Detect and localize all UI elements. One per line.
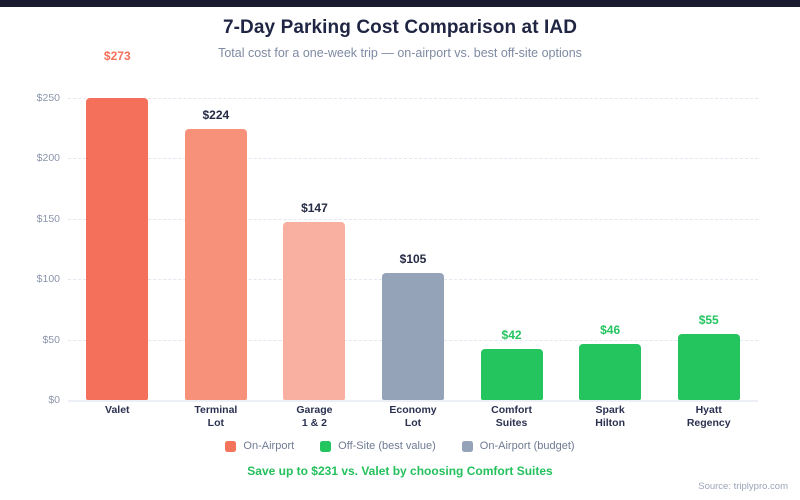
- bar-column[interactable]: $46: [579, 98, 641, 400]
- bar-value-label: $273: [57, 49, 177, 63]
- y-axis-tick-label: $250: [8, 92, 60, 104]
- legend-swatch-on-airport: [225, 441, 236, 452]
- page-title: 7-Day Parking Cost Comparison at IAD: [0, 17, 800, 39]
- chart-page: 7-Day Parking Cost Comparison at IAD Tot…: [0, 0, 800, 500]
- legend-label: On-Airport: [243, 440, 294, 452]
- legend-swatch-off-site: [320, 441, 331, 452]
- bar-column[interactable]: $224: [185, 98, 247, 400]
- bar[interactable]: [185, 129, 247, 400]
- source-attribution: Source: triplypro.com: [698, 481, 788, 492]
- y-axis-tick-label: $150: [8, 213, 60, 225]
- y-axis-tick-label: $50: [8, 334, 60, 346]
- plot-area: $0$50$100$150$200$250 $273$224$147$105$4…: [68, 98, 758, 400]
- legend-label: On-Airport (budget): [480, 440, 575, 452]
- legend-swatch-on-airport-budget: [462, 441, 473, 452]
- bar[interactable]: [678, 334, 740, 400]
- y-axis-tick-label: $100: [8, 273, 60, 285]
- bar-column[interactable]: $273: [86, 98, 148, 400]
- bar-value-label: $55: [649, 313, 769, 327]
- chart-legend: On-AirportOff-Site (best value)On-Airpor…: [0, 440, 800, 452]
- x-axis-labels: ValetTerminalLotGarage1 & 2EconomyLotCom…: [68, 404, 758, 438]
- gridline: [68, 400, 758, 402]
- legend-item[interactable]: Off-Site (best value): [320, 440, 436, 452]
- bar[interactable]: [481, 349, 543, 400]
- bar-series: $273$224$147$105$42$46$55: [68, 98, 758, 400]
- bar-column[interactable]: $42: [481, 98, 543, 400]
- bar[interactable]: [86, 98, 148, 400]
- y-axis-tick-label: $0: [8, 394, 60, 406]
- bar-column[interactable]: $147: [283, 98, 345, 400]
- bar[interactable]: [579, 344, 641, 400]
- bar-column[interactable]: $55: [678, 98, 740, 400]
- y-axis-tick-label: $200: [8, 152, 60, 164]
- legend-label: Off-Site (best value): [338, 440, 436, 452]
- bar-value-label: $105: [353, 252, 473, 266]
- top-accent-bar: [0, 0, 800, 7]
- legend-item[interactable]: On-Airport (budget): [462, 440, 575, 452]
- bar-value-label: $224: [156, 108, 276, 122]
- x-axis-label: HyattRegency: [649, 404, 769, 430]
- savings-callout: Save up to $231 vs. Valet by choosing Co…: [0, 464, 800, 478]
- bar[interactable]: [382, 273, 444, 400]
- bar-column[interactable]: $105: [382, 98, 444, 400]
- bar-value-label: $147: [254, 201, 374, 215]
- legend-item[interactable]: On-Airport: [225, 440, 294, 452]
- bar[interactable]: [283, 222, 345, 400]
